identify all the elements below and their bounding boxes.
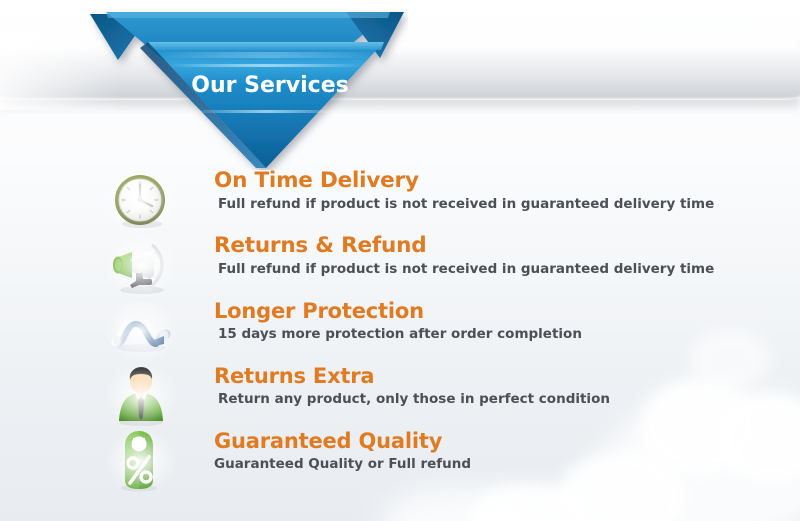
ribbon-gloss-1 [170,64,360,67]
service-title: Returns Extra [214,363,790,389]
service-item-returns-extra[interactable]: Returns Extra Return any product, only t… [0,363,800,428]
ribbon-svg: Our Services [88,0,408,170]
service-text-block: Returns & Refund Full refund if product … [214,233,790,279]
service-text-block: Returns Extra Return any product, only t… [214,363,790,409]
person-suit-icon [108,365,174,427]
service-description: 15 days more protection after order comp… [214,324,790,344]
our-services-banner: Our Services [88,0,408,170]
service-title: On Time Delivery [214,168,790,194]
banner-title: Our Services [191,73,348,98]
door-hanger-percent-icon [108,430,174,492]
service-item-returns-refund[interactable]: Returns & Refund Full refund if product … [0,233,800,298]
service-title: Guaranteed Quality [214,428,790,454]
clock-icon [108,170,174,232]
service-text-block: Longer Protection 15 days more protectio… [214,298,790,344]
ribbon-gloss-2 [192,110,342,113]
service-description: Guaranteed Quality or Full refund [214,454,790,474]
service-text-block: Guaranteed Quality Guaranteed Quality or… [214,428,790,474]
service-title: Returns & Refund [214,233,790,259]
service-description: Full refund if product is not received i… [214,259,790,279]
service-item-on-time-delivery[interactable]: On Time Delivery Full refund if product … [0,168,800,233]
services-list: On Time Delivery Full refund if product … [0,168,800,493]
service-description: Return any product, only those in perfec… [214,389,790,409]
service-text-block: On Time Delivery Full refund if product … [214,168,790,214]
service-item-guaranteed-quality[interactable]: Guaranteed Quality Guaranteed Quality or… [0,428,800,493]
service-description: Full refund if product is not received i… [214,194,790,214]
services-banner-page: Our Services [0,0,800,521]
wave-ribbon-icon [108,300,174,362]
ribbon-gloss-3 [158,52,373,58]
service-title: Longer Protection [214,298,790,324]
service-item-longer-protection[interactable]: Longer Protection 15 days more protectio… [0,298,800,363]
megaphone-icon [108,235,174,297]
